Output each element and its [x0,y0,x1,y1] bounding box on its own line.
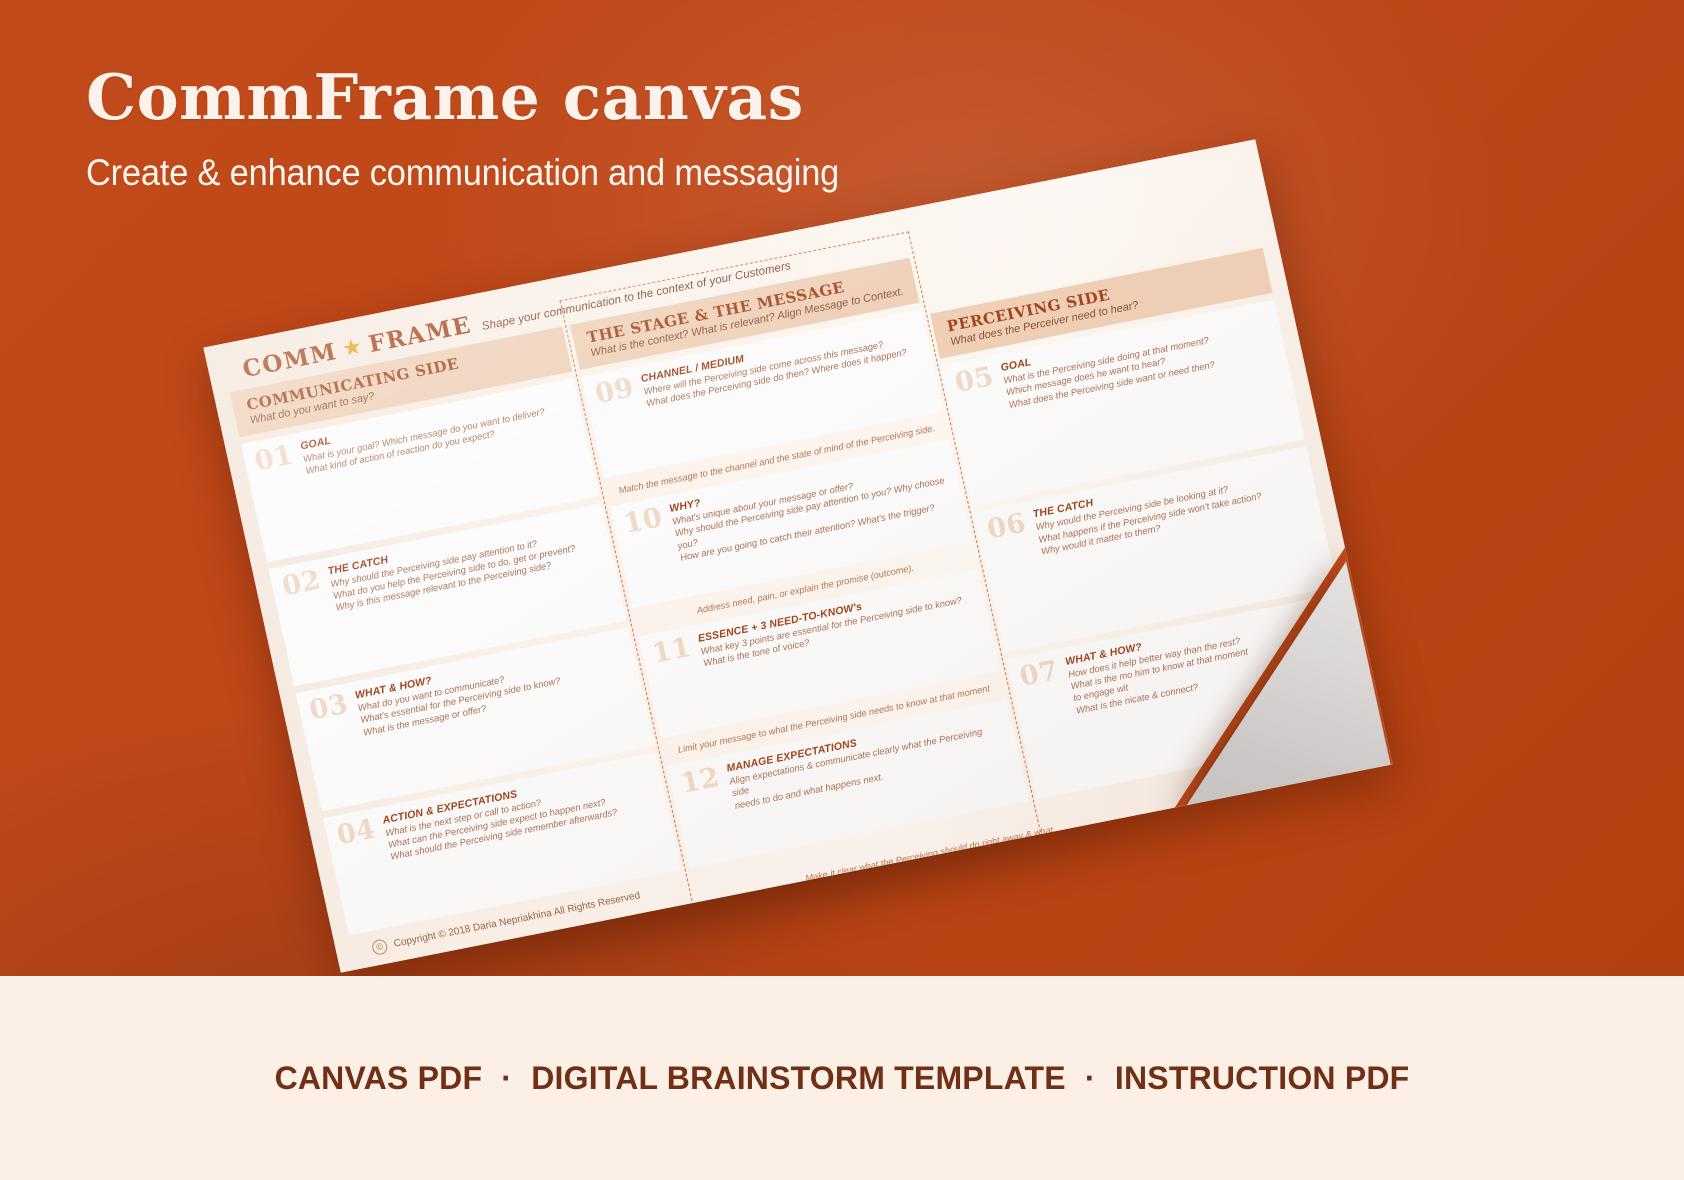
canvas-sheet-surface: COMM ★ FRAME Shape your communication to… [203,139,1392,972]
copyright-icon: © [371,938,389,956]
block-number: 10 [622,505,665,538]
footer-offer-list: CANVAS PDF · DIGITAL BRAINSTORM TEMPLATE… [275,1060,1410,1097]
star-icon: ★ [342,337,364,359]
block-number: 12 [679,765,722,798]
block-number: 11 [650,635,693,668]
footer-separator: · [1075,1060,1106,1096]
block-number: 06 [985,511,1028,544]
page-subtitle: Create & enhance communication and messa… [86,152,839,194]
footer-item-canvas-pdf: CANVAS PDF [275,1060,483,1096]
footer-item-digital-template: DIGITAL BRAINSTORM TEMPLATE [531,1060,1066,1096]
page-title: CommFrame canvas [86,64,896,130]
block-number: 05 [953,364,996,397]
footer-band: CANVAS PDF · DIGITAL BRAINSTORM TEMPLATE… [0,976,1684,1180]
block-number: 04 [335,816,378,849]
footer-item-instruction-pdf: INSTRUCTION PDF [1115,1060,1410,1096]
block-number: 02 [280,567,323,600]
block-number: 01 [253,442,296,475]
block-number: 07 [1017,658,1060,691]
canvas-sheet[interactable]: COMM ★ FRAME Shape your communication to… [203,139,1392,972]
footer-separator: · [491,1060,522,1096]
poster-background: CommFrame canvas Create & enhance commun… [0,0,1684,1180]
block-number: 03 [307,692,350,725]
canvas-grid: COMMUNICATING SIDE What do you want to s… [230,190,1370,935]
block-number: 09 [593,375,636,408]
star-icon: ★ [1228,768,1245,786]
headline-block: CommFrame canvas Create & enhance commun… [86,64,896,194]
